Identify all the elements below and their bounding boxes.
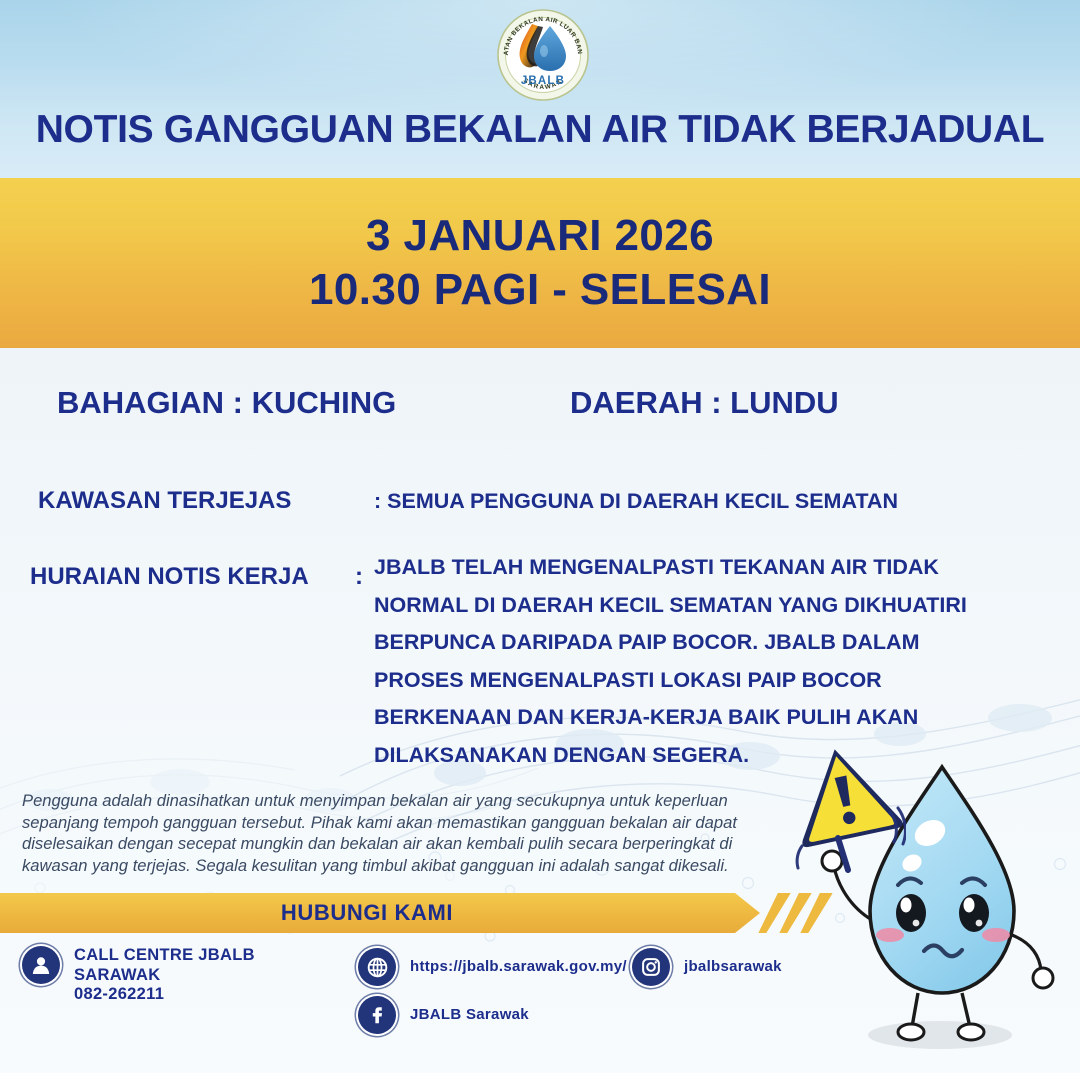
facebook-icon [358, 996, 396, 1034]
division-label: BAHAGIAN : KUCHING [57, 385, 396, 421]
website-text: https://jbalb.sarawak.gov.my/ [410, 957, 627, 977]
instagram-text: jbalbsarawak [684, 957, 782, 977]
call-centre-phone: 082-262211 [74, 985, 164, 1003]
jbalb-logo: JABATAN BEKALAN AIR LUAR BANDAR SARAWAK … [494, 4, 592, 104]
page-title: NOTIS GANGGUAN BEKALAN AIR TIDAK BERJADU… [0, 108, 1080, 152]
notice-poster: JABATAN BEKALAN AIR LUAR BANDAR SARAWAK … [0, 0, 1080, 1073]
notice-date: 3 JANUARI 2026 [366, 209, 714, 263]
work-description-line: PROSES MENGENALPASTI LOKASI PAIP BOCOR [374, 662, 1014, 700]
person-icon [22, 946, 60, 984]
work-description-label: HURAIAN NOTIS KERJA [30, 563, 309, 591]
contact-band: HUBUNGI KAMI [0, 893, 760, 933]
work-description-line: BERKENAAN DAN KERJA-KERJA BAIK PULIH AKA… [374, 699, 1014, 737]
instagram-handle: jbalbsarawak [684, 958, 782, 975]
instagram-icon [632, 948, 670, 986]
contact-website[interactable]: https://jbalb.sarawak.gov.my/ [358, 948, 627, 986]
globe-icon [358, 948, 396, 986]
affected-area-value: : SEMUA PENGGUNA DI DAERAH KECIL SEMATAN [374, 489, 898, 514]
jbalb-logo-svg: JABATAN BEKALAN AIR LUAR BANDAR SARAWAK … [494, 4, 592, 104]
work-description-line: BERPUNCA DARIPADA PAIP BOCOR. JBALB DALA… [374, 624, 1014, 662]
notice-time: 10.30 PAGI - SELESAI [309, 263, 771, 317]
warning-triangle-icon [786, 738, 906, 873]
contact-call-centre[interactable]: CALL CENTRE JBALB SARAWAK 082-262211 [22, 946, 255, 1005]
district-label: DAERAH : LUNDU [570, 385, 839, 421]
location-row: BAHAGIAN : KUCHING DAERAH : LUNDU [0, 385, 1080, 429]
website-url: https://jbalb.sarawak.gov.my/ [410, 958, 627, 975]
contact-facebook[interactable]: JBALB Sarawak [358, 996, 529, 1034]
affected-area-label: KAWASAN TERJEJAS [38, 487, 291, 515]
contact-instagram[interactable]: jbalbsarawak [632, 948, 782, 986]
advisory-paragraph: Pengguna adalah dinasihatkan untuk menyi… [22, 790, 782, 876]
facebook-text: JBALB Sarawak [410, 1005, 529, 1025]
date-band: 3 JANUARI 2026 10.30 PAGI - SELESAI [0, 178, 1080, 348]
work-description-colon: : [355, 563, 363, 591]
call-centre-text: CALL CENTRE JBALB SARAWAK 082-262211 [74, 946, 255, 1005]
contact-band-title: HUBUNGI KAMI [281, 900, 453, 926]
facebook-handle: JBALB Sarawak [410, 1006, 529, 1023]
work-description-line: NORMAL DI DAERAH KECIL SEMATAN YANG DIKH… [374, 587, 1014, 625]
svg-text:JBALB: JBALB [521, 75, 565, 87]
call-centre-line2: SARAWAK [74, 966, 160, 984]
work-description-line: JBALB TELAH MENGENALPASTI TEKANAN AIR TI… [374, 549, 1014, 587]
call-centre-line1: CALL CENTRE JBALB [74, 946, 255, 964]
